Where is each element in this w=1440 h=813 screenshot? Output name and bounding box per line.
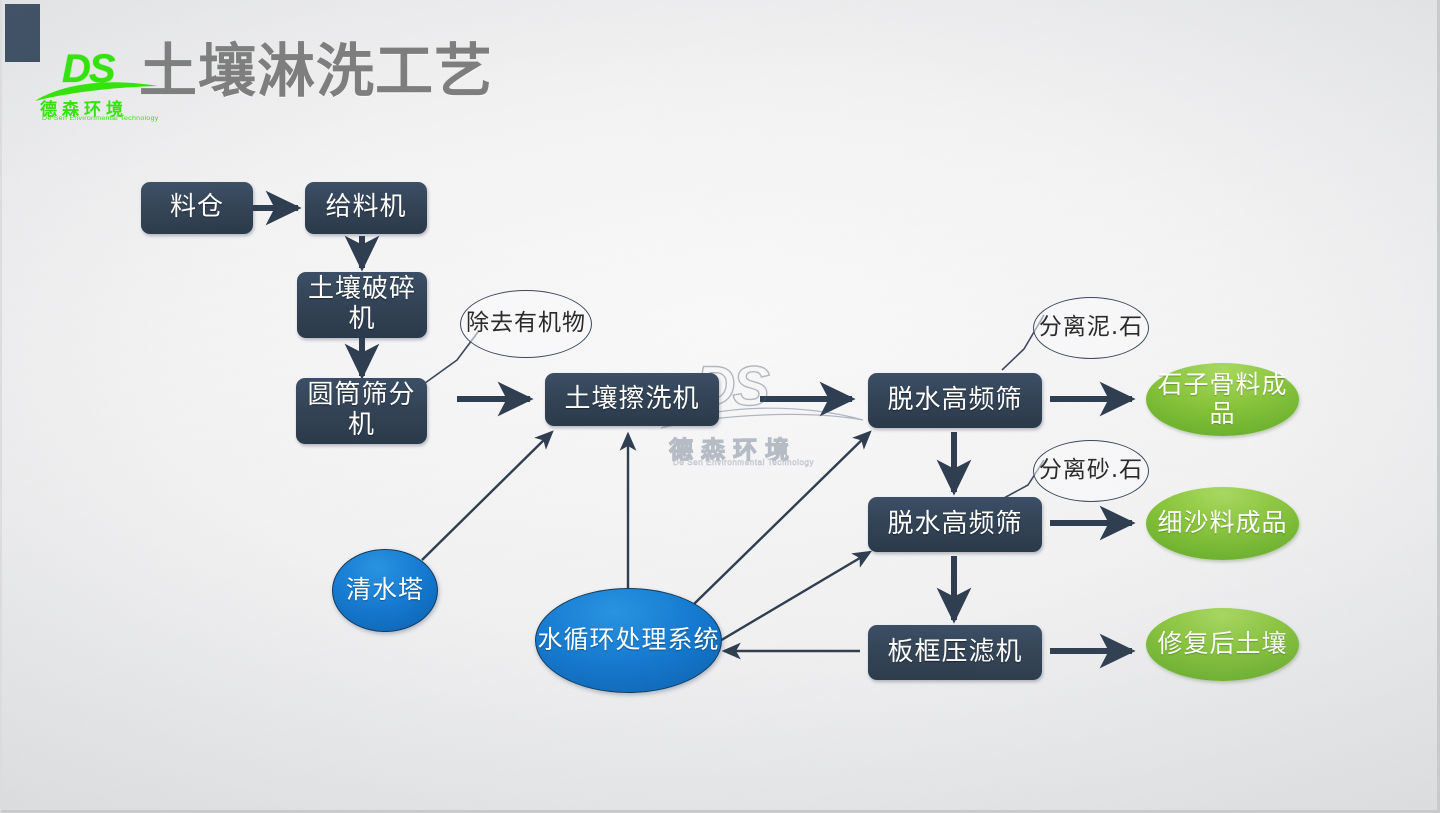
logo-name-en: De Sen Environmental Technology xyxy=(42,115,159,122)
arrow-watertower-to-scrubber xyxy=(422,432,552,560)
node-dewater-screen-1[interactable]: 脱水高频筛 xyxy=(868,373,1042,428)
watermark-name-en: De Sen Environmental Technology xyxy=(673,458,814,467)
arrow-watersystem-to-screen2 xyxy=(708,552,870,648)
node-feed-bin[interactable]: 料仓 xyxy=(141,182,253,234)
node-product-gravel[interactable]: 石子骨料成品 xyxy=(1146,363,1299,436)
callout-separate-sand-stone: 分离砂.石 xyxy=(1033,440,1149,502)
node-trommel-screen[interactable]: 圆筒筛分机 xyxy=(296,378,427,444)
node-clean-water-tower[interactable]: 清水塔 xyxy=(332,549,438,632)
callout-separate-mud-stone: 分离泥.石 xyxy=(1033,297,1149,359)
arrow-watersystem-to-screen1 xyxy=(694,432,870,604)
node-soil-scrubber[interactable]: 土壤擦洗机 xyxy=(545,373,719,426)
node-water-recycle-system[interactable]: 水循环处理系统 xyxy=(535,588,722,693)
node-filter-press[interactable]: 板框压滤机 xyxy=(868,625,1042,680)
node-soil-crusher[interactable]: 土壤破碎机 xyxy=(297,272,427,338)
callout-remove-organics: 除去有机物 xyxy=(460,290,592,358)
node-product-fine-sand[interactable]: 细沙料成品 xyxy=(1146,487,1299,560)
watermark-name-cn: 德森环境 xyxy=(669,430,797,465)
slide-canvas: DS 德森环境 De Sen Environmental Technology … xyxy=(0,0,1440,813)
page-title: 土壤淋洗工艺 xyxy=(139,43,493,101)
node-product-remediated-soil[interactable]: 修复后土壤 xyxy=(1146,608,1299,681)
node-dewater-screen-2[interactable]: 脱水高频筛 xyxy=(868,497,1042,552)
node-feeder[interactable]: 给料机 xyxy=(305,182,427,234)
logo-mark: DS xyxy=(62,49,114,89)
